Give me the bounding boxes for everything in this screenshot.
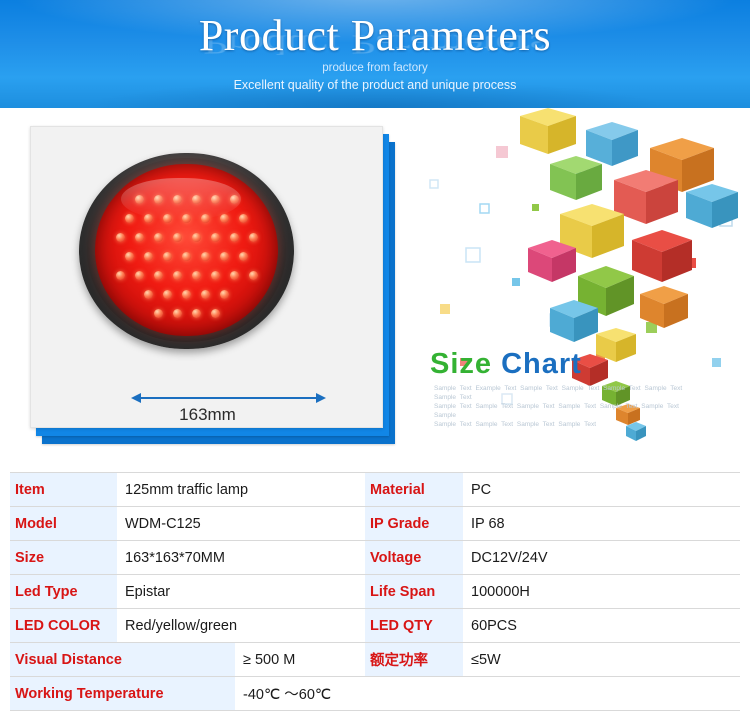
led-dot: [192, 271, 201, 280]
led-dot: [144, 252, 153, 261]
led-dot: [239, 214, 248, 223]
led-dot: [230, 233, 239, 242]
led-dot: [230, 271, 239, 280]
table-row: Led Type Epistar Life Span 100000H: [10, 575, 740, 609]
spec-value-visual-distance: ≥ 500 M: [235, 643, 365, 676]
promo-title-word-2: Chart: [501, 348, 582, 380]
led-dot: [116, 271, 125, 280]
header-banner: Product Parameters Product Parameters pr…: [0, 0, 750, 108]
led-dot: [163, 252, 172, 261]
led-dot: [125, 214, 134, 223]
red-led-traffic-lamp-module-icon: [79, 153, 294, 358]
spec-label-led-color: LED COLOR: [10, 609, 117, 642]
double-arrow-horizontal-icon: [131, 391, 326, 403]
product-photo-card: 163mm: [30, 126, 383, 428]
promo-filler-line-3: Sample Text Sample Text Sample Text Samp…: [434, 420, 684, 429]
spec-label-led-type: Led Type: [10, 575, 117, 608]
promo-filler-text: Sample Text Example Text Sample Text Sam…: [434, 384, 684, 429]
spec-label-material: Material: [365, 473, 463, 506]
spec-value-led-color: Red/yellow/green: [117, 609, 365, 642]
table-row: LED COLOR Red/yellow/green LED QTY 60PCS: [10, 609, 740, 643]
spec-value-item: 125mm traffic lamp: [117, 473, 365, 506]
led-dot: [192, 233, 201, 242]
led-dot: [249, 233, 258, 242]
led-dot: [135, 233, 144, 242]
led-dot: [182, 252, 191, 261]
table-row: Working Temperature -40℃ ～60℃: [10, 677, 740, 711]
spec-value-material: PC: [463, 473, 740, 506]
promo-title: Size Chart: [430, 348, 730, 381]
spec-label-ip-grade: IP Grade: [365, 507, 463, 540]
led-dot: [154, 309, 163, 318]
product-photo-card-stack: 163mm: [30, 126, 395, 444]
table-row: Model WDM-C125 IP Grade IP 68: [10, 507, 740, 541]
spec-value-model: WDM-C125: [117, 507, 365, 540]
spec-value-size: 163*163*70MM: [117, 541, 365, 574]
led-dot: [192, 309, 201, 318]
spec-label-item: Item: [10, 473, 117, 506]
spec-value-rated-power: ≤5W: [463, 643, 740, 676]
specification-table: Item 125mm traffic lamp Material PC Mode…: [10, 472, 740, 711]
table-row: Size 163*163*70MM Voltage DC12V/24V: [10, 541, 740, 575]
lens-highlight: [121, 178, 241, 220]
led-dot: [220, 290, 229, 299]
spec-value-voltage: DC12V/24V: [463, 541, 740, 574]
led-dot: [201, 252, 210, 261]
spec-label-life-span: Life Span: [365, 575, 463, 608]
led-dot: [249, 271, 258, 280]
middle-section: 163mm: [0, 108, 750, 460]
led-dot: [163, 290, 172, 299]
product-parameters-page: Product Parameters Product Parameters pr…: [0, 0, 750, 722]
lamp-red-lens: [95, 164, 278, 336]
banner-subtitle-1: produce from factory: [0, 62, 750, 74]
page-title: Product Parameters: [0, 8, 750, 64]
led-dot: [182, 290, 191, 299]
led-dot: [144, 290, 153, 299]
dimension-label: 163mm: [31, 405, 383, 425]
promo-title-word-1: Size: [430, 348, 492, 380]
led-dot: [211, 271, 220, 280]
led-dot: [116, 233, 125, 242]
led-dot: [211, 233, 220, 242]
spec-value-ip-grade: IP 68: [463, 507, 740, 540]
spec-label-model: Model: [10, 507, 117, 540]
spec-label-visual-distance: Visual Distance: [10, 643, 235, 676]
led-dot: [201, 290, 210, 299]
led-dot: [173, 309, 182, 318]
spec-label-size: Size: [10, 541, 117, 574]
table-row: Visual Distance ≥ 500 M 额定功率 ≤5W: [10, 643, 740, 677]
spec-label-voltage: Voltage: [365, 541, 463, 574]
led-dot: [173, 271, 182, 280]
spec-label-working-temperature: Working Temperature: [10, 677, 235, 710]
led-dot: [239, 252, 248, 261]
spec-label-led-qty: LED QTY: [365, 609, 463, 642]
spec-value-led-type: Epistar: [117, 575, 365, 608]
promo-filler-line-2: Sample Text Sample Text Sample Text Samp…: [434, 402, 684, 420]
led-dot: [173, 233, 182, 242]
led-dot: [125, 252, 134, 261]
led-dot: [220, 214, 229, 223]
led-dot: [154, 271, 163, 280]
led-dot: [211, 309, 220, 318]
spec-label-rated-power: 额定功率: [365, 643, 463, 676]
led-dot: [135, 271, 144, 280]
size-chart-promo-art: Size Chart Sample Text Example Text Samp…: [400, 108, 750, 460]
table-row: Item 125mm traffic lamp Material PC: [10, 472, 740, 507]
spec-value-life-span: 100000H: [463, 575, 740, 608]
spec-value-led-qty: 60PCS: [463, 609, 740, 642]
spec-value-working-temperature: -40℃ ～60℃: [235, 677, 740, 710]
led-dot: [220, 252, 229, 261]
led-dot: [154, 233, 163, 242]
banner-subtitle-2: Excellent quality of the product and uni…: [0, 78, 750, 92]
promo-filler-line-1: Sample Text Example Text Sample Text Sam…: [434, 384, 684, 402]
